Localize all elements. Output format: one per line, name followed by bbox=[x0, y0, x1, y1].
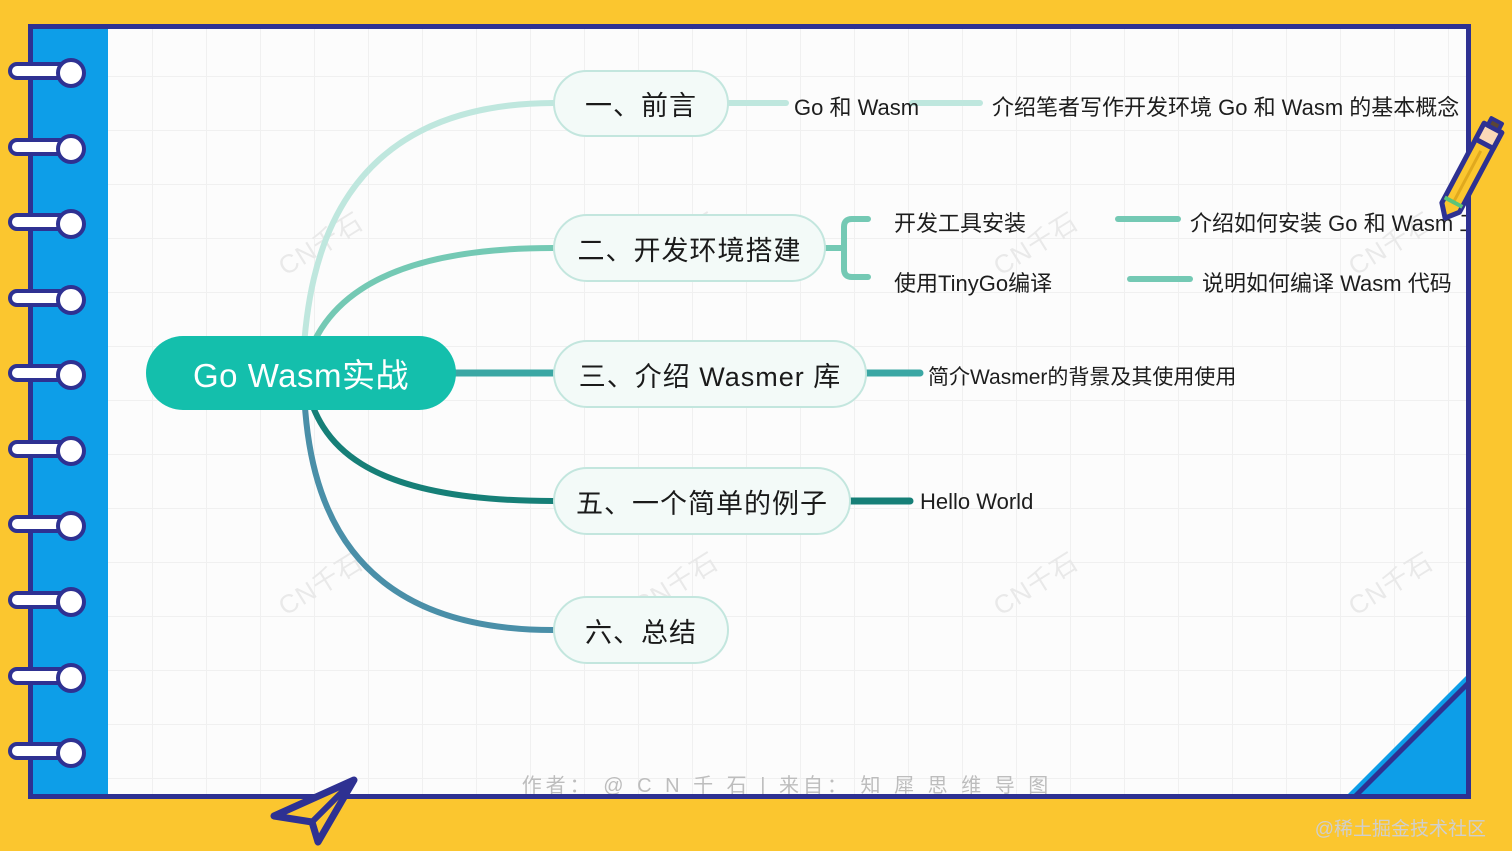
spiral-ring bbox=[8, 285, 90, 311]
branch-node-2-label: 二、开发环境搭建 bbox=[578, 229, 802, 268]
ring-knob bbox=[56, 360, 86, 390]
detail-node-1-1-1[interactable]: 介绍笔者写作开发环境 Go 和 Wasm 的基本概念 bbox=[992, 90, 1459, 122]
mindmap-canvas: CN千石 CN千石 CN千石 CN千石 CN千石 CN千石 CN千石 CN千石 bbox=[108, 29, 1466, 794]
branch-node-1[interactable]: 一、前言 bbox=[553, 70, 729, 137]
spiral-ring bbox=[8, 663, 90, 689]
detail-node-2-2-1[interactable]: 说明如何编译 Wasm 代码 bbox=[1202, 266, 1452, 298]
root-node-label: Go Wasm实战 bbox=[193, 349, 409, 397]
spiral-ring bbox=[8, 134, 90, 160]
ring-knob bbox=[56, 511, 86, 541]
spiral-ring bbox=[8, 511, 90, 537]
leaf-node-5-1[interactable]: Hello World bbox=[920, 489, 1033, 515]
juejin-watermark: @稀土掘金技术社区 bbox=[1315, 814, 1486, 841]
ring-knob bbox=[56, 209, 86, 239]
ring-knob bbox=[56, 285, 86, 315]
paper-plane-icon bbox=[266, 776, 362, 846]
spiral-ring bbox=[8, 58, 90, 84]
spiral-ring bbox=[8, 436, 90, 462]
branch-node-2[interactable]: 二、开发环境搭建 bbox=[553, 214, 826, 282]
branch-node-1-label: 一、前言 bbox=[585, 84, 697, 123]
leaf-node-1-1[interactable]: Go 和 Wasm bbox=[794, 90, 919, 122]
spiral-ring bbox=[8, 738, 90, 764]
ring-knob bbox=[56, 134, 86, 164]
spiral-ring bbox=[8, 360, 90, 386]
branch-node-5-label: 五、一个简单的例子 bbox=[576, 482, 828, 521]
branch-node-3[interactable]: 三、介绍 Wasmer 库 bbox=[553, 340, 867, 408]
link-root-to-branch-6 bbox=[304, 389, 553, 630]
pencil-icon bbox=[1437, 110, 1511, 230]
leaf-node-2-2[interactable]: 使用TinyGo编译 bbox=[894, 266, 1052, 298]
ring-knob bbox=[56, 587, 86, 617]
link-root-to-branch-1 bbox=[303, 103, 553, 362]
ring-knob bbox=[56, 738, 86, 768]
detail-node-2-1-1[interactable]: 介绍如何安装 Go 和 Wasm 工具链 bbox=[1190, 206, 1466, 238]
branch-node-6[interactable]: 六、总结 bbox=[553, 596, 729, 664]
mindmap-poster: CN千石 CN千石 CN千石 CN千石 CN千石 CN千石 CN千石 CN千石 bbox=[0, 0, 1512, 851]
link-branch-2-bracket bbox=[844, 219, 868, 277]
ring-knob bbox=[56, 436, 86, 466]
branch-node-6-label: 六、总结 bbox=[585, 611, 697, 650]
branch-node-5[interactable]: 五、一个简单的例子 bbox=[553, 467, 851, 535]
spiral-ring bbox=[8, 587, 90, 613]
connector-layer bbox=[108, 29, 1466, 794]
ring-knob bbox=[56, 58, 86, 88]
spiral-ring bbox=[8, 209, 90, 235]
root-node[interactable]: Go Wasm实战 bbox=[146, 336, 456, 410]
branch-node-3-label: 三、介绍 Wasmer 库 bbox=[579, 355, 842, 394]
leaf-node-3-1[interactable]: 简介Wasmer的背景及其使用使用 bbox=[928, 361, 1236, 391]
ring-knob bbox=[56, 663, 86, 693]
leaf-node-2-1[interactable]: 开发工具安装 bbox=[894, 206, 1026, 238]
corner-fold bbox=[1348, 676, 1466, 794]
